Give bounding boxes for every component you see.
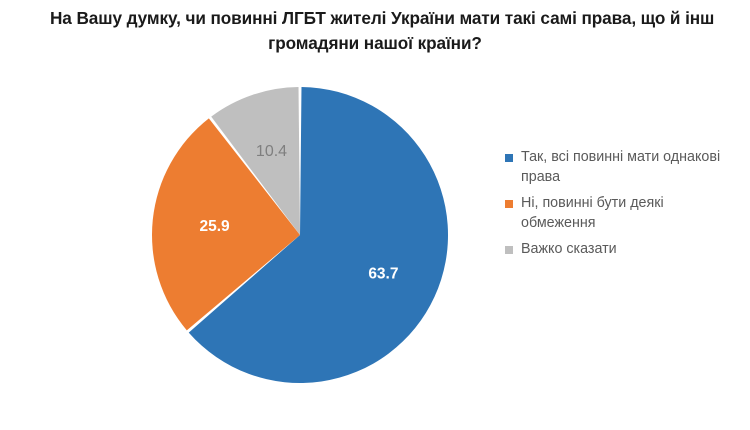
legend-label-yes: Так, всі повинні мати однакові права [521,148,726,187]
legend-swatch-orange-icon [505,200,513,208]
legend-label-hard-to-say: Важко сказати [521,240,726,260]
pie-svg: 63.725.910.4 [120,70,490,410]
chart-legend: Так, всі повинні мати однакові права Ні,… [503,148,743,267]
chart-title-line-1: На Вашу думку, чи повинні ЛГБТ жителі Ук… [50,6,750,31]
chart-title: На Вашу думку, чи повинні ЛГБТ жителі Ук… [0,6,750,56]
legend-swatch-blue-icon [505,154,513,162]
legend-swatch-gray-icon [505,246,513,254]
chart-title-line-2: громадяни нашої країни? [0,31,750,56]
pie-slices [152,87,448,383]
legend-item-yes[interactable]: Так, всі повинні мати однакові права [503,148,743,187]
legend-label-no: Ні, повинні бути деякі обмеження [521,194,726,233]
pie-chart-figure: На Вашу думку, чи повинні ЛГБТ жителі Ук… [0,0,750,430]
legend-item-hard-to-say[interactable]: Важко сказати [503,240,743,260]
pie-plot-area: 63.725.910.4 [120,70,490,410]
pie-slice-value-label: 63.7 [368,265,398,282]
legend-item-no[interactable]: Ні, повинні бути деякі обмеження [503,194,743,233]
pie-slice-value-label: 25.9 [200,218,231,235]
pie-slice-value-label: 10.4 [256,143,287,160]
